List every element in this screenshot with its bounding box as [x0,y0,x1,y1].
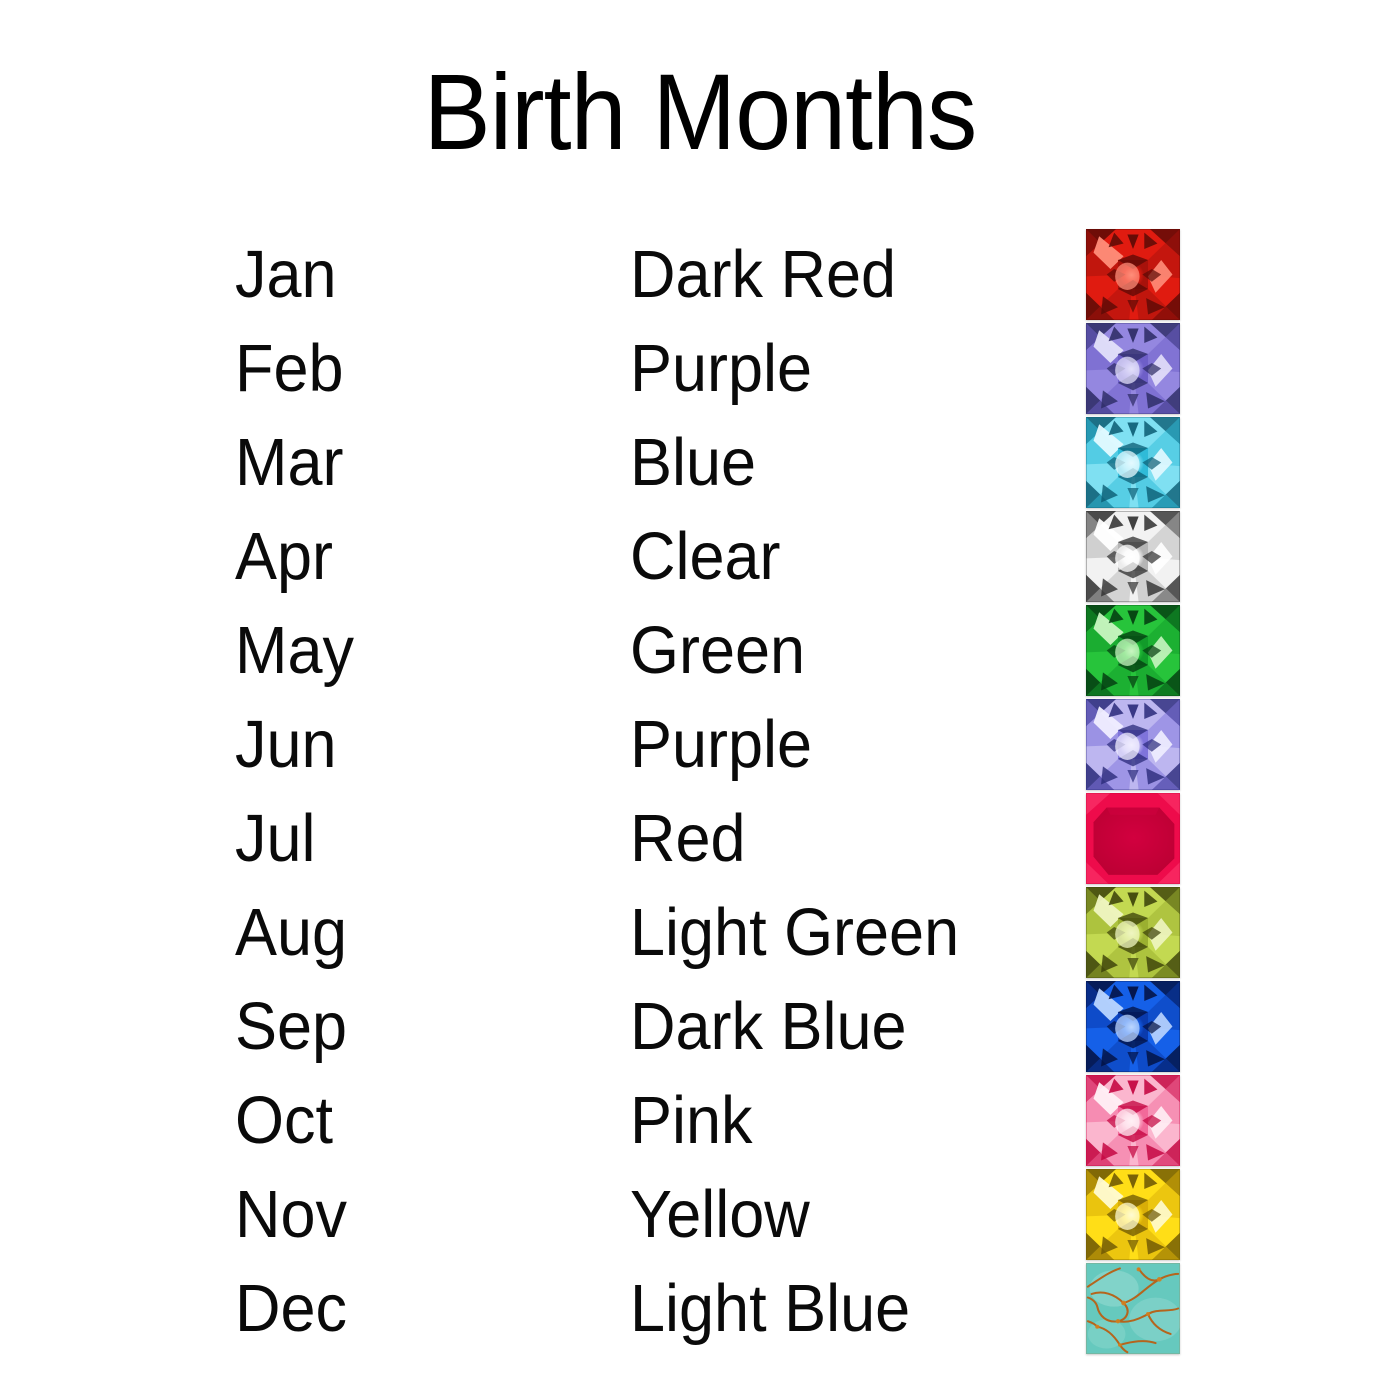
garnet-gem [1086,229,1180,320]
alexandrite-gem [1086,699,1180,790]
color-label: Purple [630,698,812,792]
color-label: Blue [630,416,756,510]
month-label: Jul [235,792,316,886]
ruby-gem [1086,793,1180,884]
citrine-gem [1086,1169,1180,1260]
emerald-gem [1086,605,1180,696]
table-row: JulRed [0,792,1400,886]
peridot-gem [1086,887,1180,978]
month-label: Sep [235,980,347,1074]
month-label: Jan [235,228,337,322]
birth-months-table: JanDark Red FebPurple [0,228,1400,1356]
table-row: AprClear [0,510,1400,604]
color-label: Dark Blue [630,980,907,1074]
color-label: Pink [630,1074,753,1168]
table-row: DecLight Blue [0,1262,1400,1356]
table-row: NovYellow [0,1168,1400,1262]
diamond-gem [1086,511,1180,602]
month-label: Nov [235,1168,347,1262]
month-label: Dec [235,1262,347,1356]
sapphire-gem [1086,981,1180,1072]
color-label: Dark Red [630,228,896,322]
page-title: Birth Months [49,56,1351,168]
color-label: Yellow [630,1168,810,1262]
pink-tourmaline-gem [1086,1075,1180,1166]
table-row: AugLight Green [0,886,1400,980]
month-label: Oct [235,1074,333,1168]
turquoise-gem [1086,1263,1180,1354]
amethyst-gem [1086,323,1180,414]
month-label: Apr [235,510,333,604]
color-label: Green [630,604,805,698]
table-row: SepDark Blue [0,980,1400,1074]
color-label: Purple [630,322,812,416]
color-label: Clear [630,510,781,604]
table-row: JunPurple [0,698,1400,792]
month-label: May [235,604,354,698]
month-label: Mar [235,416,343,510]
color-label: Light Blue [630,1262,910,1356]
month-label: Aug [235,886,347,980]
birth-months-infographic: Birth Months JanDark Red FebPurple [0,0,1400,1400]
table-row: MarBlue [0,416,1400,510]
color-label: Red [630,792,746,886]
table-row: FebPurple [0,322,1400,416]
color-label: Light Green [630,886,959,980]
table-row: JanDark Red [0,228,1400,322]
table-row: MayGreen [0,604,1400,698]
aquamarine-gem [1086,417,1180,508]
table-row: OctPink [0,1074,1400,1168]
month-label: Jun [235,698,337,792]
month-label: Feb [235,322,344,416]
